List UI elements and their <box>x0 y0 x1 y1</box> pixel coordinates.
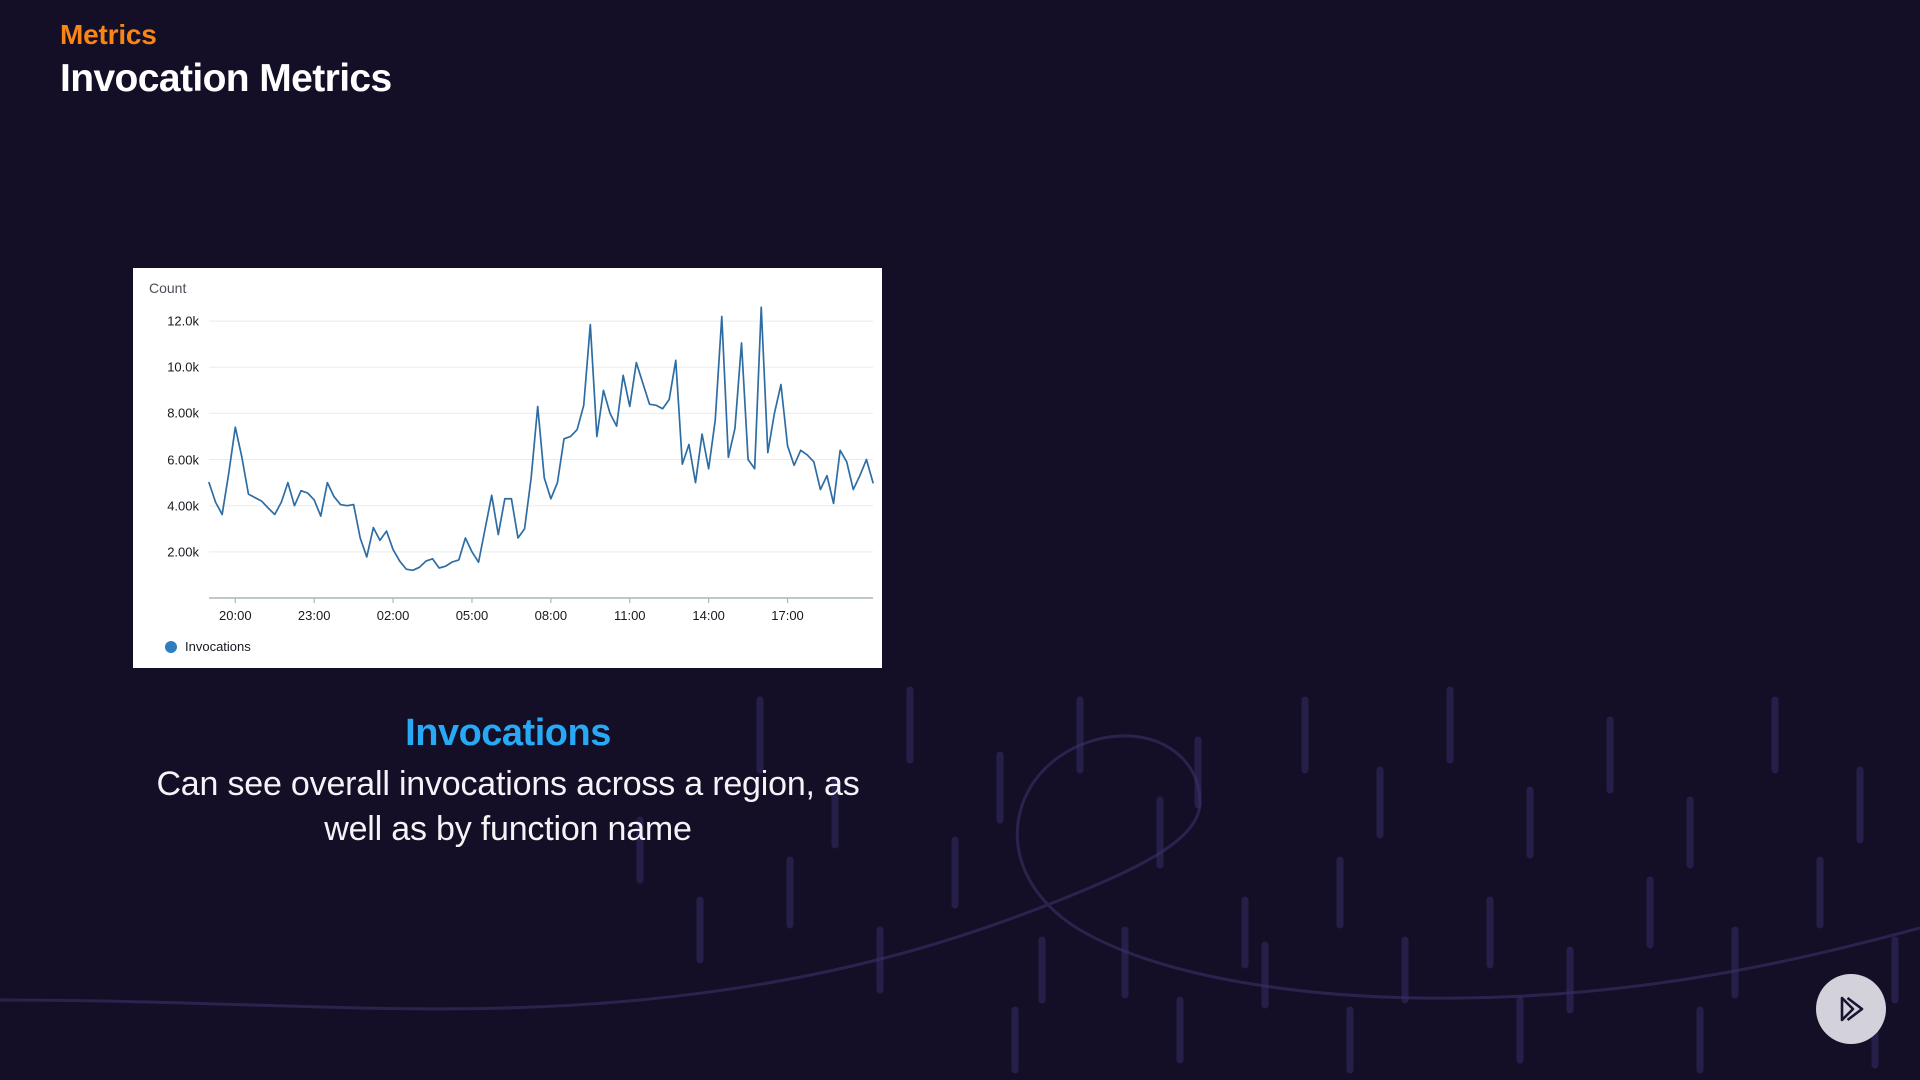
chart-y-axis-labels: 2.00k4.00k6.00k8.00k10.0k12.0k <box>149 268 199 668</box>
y-tick-label: 4.00k <box>167 498 199 513</box>
y-tick-label: 6.00k <box>167 452 199 467</box>
page-title: Invocation Metrics <box>60 58 392 101</box>
invocations-chart-card: Count 2.00k4.00k6.00k8.00k10.0k12.0k 20:… <box>133 268 882 668</box>
x-tick-label: 02:00 <box>377 608 410 623</box>
legend-label-invocations: Invocations <box>185 639 251 654</box>
y-tick-label: 10.0k <box>167 360 199 375</box>
slide-header: Metrics Invocation Metrics <box>60 18 392 100</box>
chart-x-axis-labels: 20:0023:0002:0005:0008:0011:0014:0017:00 <box>209 608 873 630</box>
double-play-logo-icon <box>1831 989 1871 1029</box>
x-tick-label: 14:00 <box>692 608 725 623</box>
eyebrow-label: Metrics <box>60 18 392 52</box>
caption-title: Invocations <box>133 712 883 756</box>
x-tick-label: 20:00 <box>219 608 252 623</box>
slide-root: Metrics Invocation Metrics Count 2.00k4.… <box>0 0 1920 1080</box>
x-tick-label: 05:00 <box>456 608 489 623</box>
y-tick-label: 8.00k <box>167 406 199 421</box>
presentation-logo-badge[interactable] <box>1816 974 1886 1044</box>
x-tick-label: 23:00 <box>298 608 331 623</box>
y-tick-label: 2.00k <box>167 544 199 559</box>
chart-series-group <box>209 307 873 570</box>
caption-body: Can see overall invocations across a reg… <box>133 762 883 852</box>
y-tick-label: 12.0k <box>167 314 199 329</box>
x-tick-label: 11:00 <box>614 608 646 623</box>
caption-block: Invocations Can see overall invocations … <box>133 712 883 851</box>
chart-legend[interactable]: Invocations <box>165 639 251 654</box>
series-line-invocations <box>209 307 873 570</box>
legend-swatch-invocations <box>165 641 177 653</box>
x-tick-label: 17:00 <box>771 608 804 623</box>
x-tick-label: 08:00 <box>535 608 568 623</box>
chart-axis-baseline <box>209 598 873 603</box>
